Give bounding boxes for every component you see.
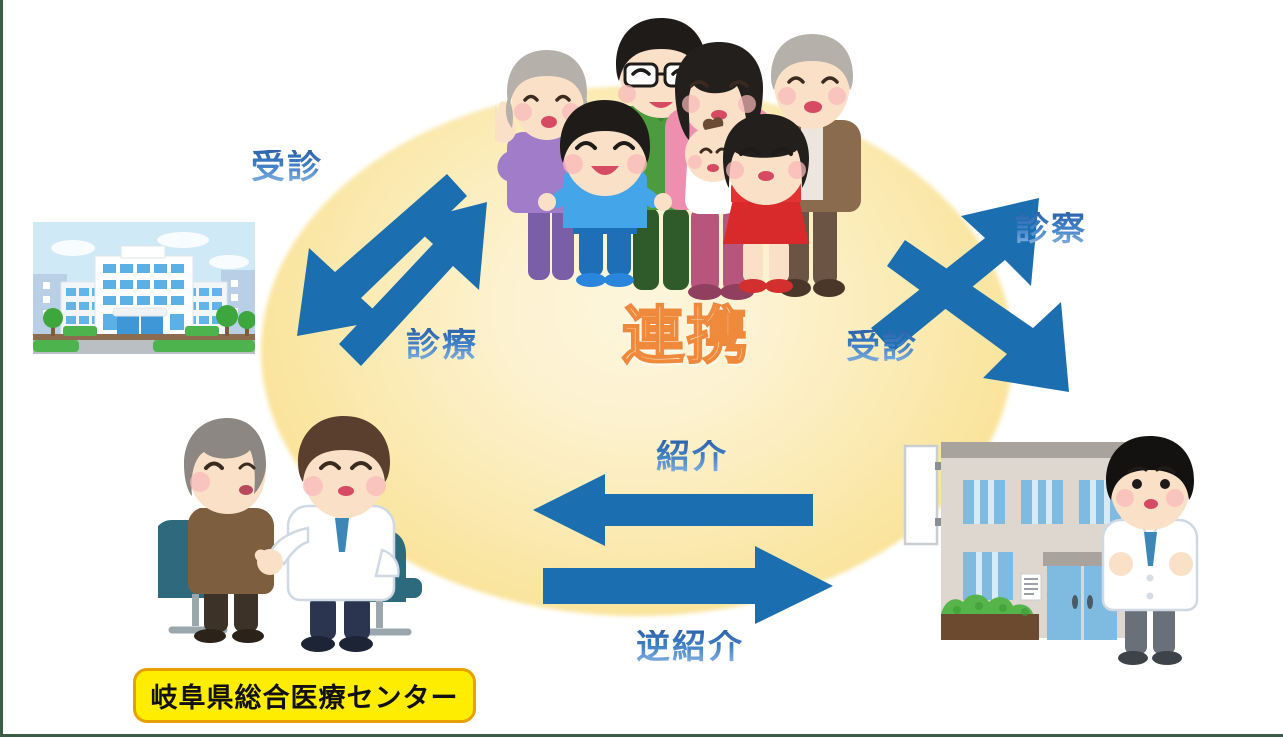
- diagram-canvas: 連携 受診 診療 診察 受診 紹介 逆紹介 岐阜県総合医療センター: [0, 0, 1283, 737]
- arrow-gyaku-shokai-right: [543, 546, 833, 624]
- doctor-and-patient-illustration: [158, 390, 438, 665]
- center-name-badge: 岐阜県総合医療センター: [133, 668, 476, 723]
- hospital-building-illustration: [33, 222, 255, 368]
- center-keyword: 連携: [586, 305, 786, 367]
- arrow-hub-to-clinic: [887, 238, 1077, 398]
- family-group-illustration: [495, 12, 867, 300]
- label-shinsatsu: 診察: [1015, 212, 1087, 246]
- label-shinryo: 診療: [406, 328, 478, 362]
- label-shokai: 紹介: [656, 440, 728, 474]
- center-name-text: 岐阜県総合医療センター: [151, 676, 459, 715]
- clinic-and-doctor-illustration: [903, 418, 1203, 668]
- label-jushin-top-left: 受診: [251, 150, 323, 184]
- label-gyaku-shokai: 逆紹介: [636, 630, 744, 664]
- label-jushin-right: 受診: [846, 330, 918, 364]
- arrow-shokai-left: [533, 474, 813, 546]
